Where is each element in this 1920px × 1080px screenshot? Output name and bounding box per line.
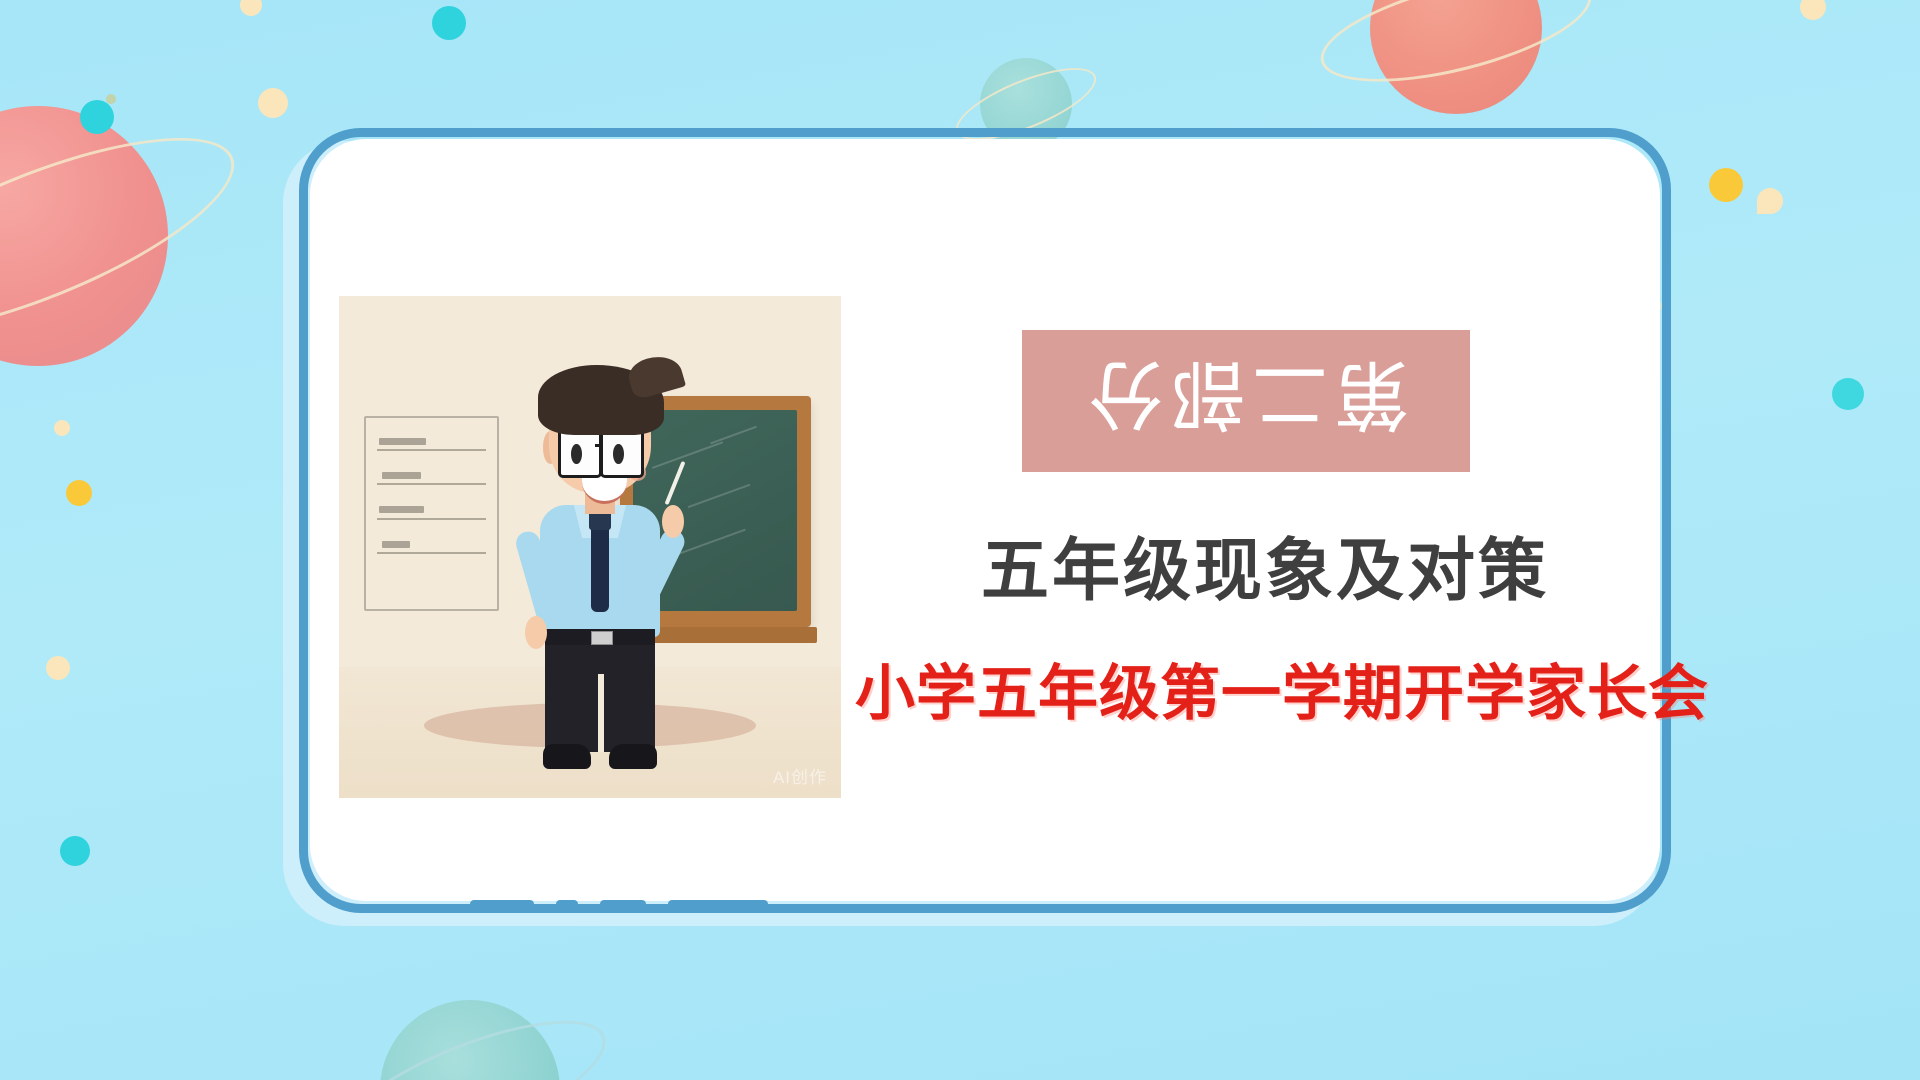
- dot-cyan-right: [1832, 378, 1864, 410]
- dot-yellow-top: [1800, 0, 1826, 20]
- dot-cream-upper: [54, 420, 70, 436]
- dot-yellow-right: [1709, 168, 1743, 202]
- planet-ring-icon: [318, 993, 621, 1080]
- slide-canvas: AI创作 第二部分 五年级现象及对策 小学五年级第一学期开学家长会: [0, 0, 1920, 1080]
- planet-ring-icon: [0, 99, 256, 373]
- salmon-planet-decoration: [1370, 0, 1542, 114]
- dot-cream-bottom: [46, 656, 70, 680]
- dot-cream-right: [1757, 188, 1783, 214]
- wall-notes-board-icon: [364, 416, 499, 611]
- dot-cyan-left: [80, 100, 114, 134]
- section-number-label: 第二部分: [1082, 346, 1410, 456]
- dot-yellow-left: [106, 94, 116, 104]
- pointer-stick-icon: [664, 461, 685, 505]
- page-title: 五年级现象及对策: [955, 515, 1575, 614]
- illustration-watermark: AI创作: [773, 763, 827, 788]
- dot-cyan-bottom: [60, 836, 90, 866]
- dot-cyan-mid: [432, 6, 466, 40]
- card-dashed-accent: [470, 900, 810, 909]
- dot-cream-top: [240, 0, 262, 16]
- pink-planet-decoration: [0, 106, 168, 366]
- section-number-banner: 第二部分: [1022, 330, 1470, 472]
- planet-ring-icon: [1311, 0, 1602, 103]
- page-subtitle: 小学五年级第一学期开学家长会: [855, 645, 1675, 732]
- teal-planet-decoration: [380, 1000, 560, 1080]
- teacher-illustration: AI创作: [339, 296, 841, 798]
- dot-cream-left: [258, 88, 288, 118]
- dot-yellow-lower: [66, 480, 92, 506]
- teacher-character: [490, 361, 711, 773]
